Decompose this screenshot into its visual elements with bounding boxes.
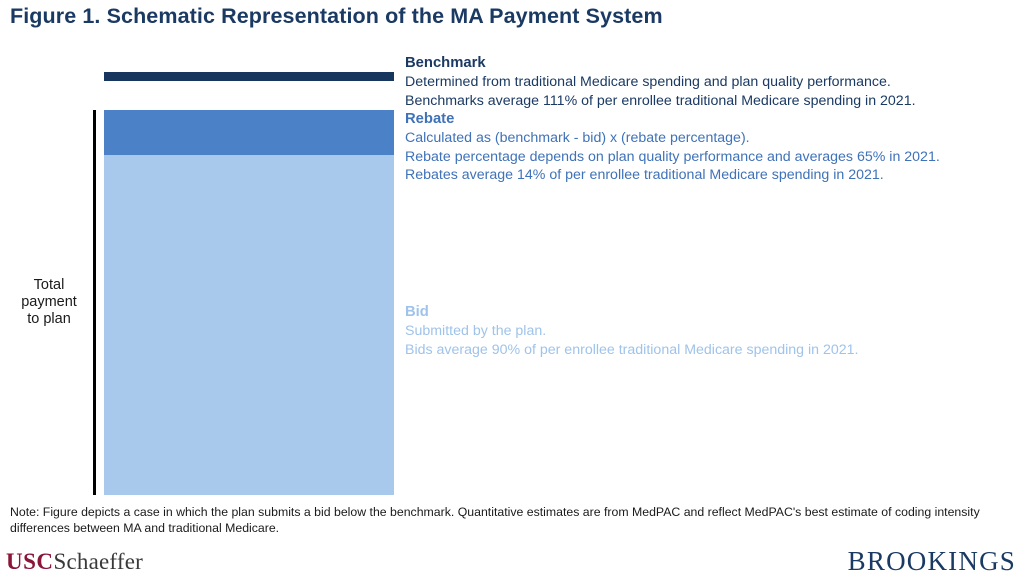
usc-wordmark: USC xyxy=(6,549,54,574)
schaeffer-wordmark: Schaeffer xyxy=(54,549,144,574)
bid-line-1: Submitted by the plan. xyxy=(405,322,859,341)
bid-bar-segment xyxy=(104,155,394,495)
bid-annotation: Bid Submitted by the plan. Bids average … xyxy=(405,303,859,359)
benchmark-line-1: Determined from traditional Medicare spe… xyxy=(405,73,916,92)
usc-schaeffer-logo: USCSchaeffer xyxy=(6,549,143,575)
figure-note: Note: Figure depicts a case in which the… xyxy=(10,505,1014,536)
rebate-line-1: Calculated as (benchmark - bid) x (rebat… xyxy=(405,129,940,148)
brookings-logo: BROOKINGS xyxy=(848,546,1016,577)
benchmark-line-2: Benchmarks average 111% of per enrollee … xyxy=(405,92,916,111)
rebate-line-3: Rebates average 14% of per enrollee trad… xyxy=(405,166,940,185)
benchmark-heading: Benchmark xyxy=(405,54,916,73)
rebate-line-2: Rebate percentage depends on plan qualit… xyxy=(405,148,940,167)
benchmark-annotation: Benchmark Determined from traditional Me… xyxy=(405,54,916,110)
benchmark-bar-segment xyxy=(104,72,394,81)
rebate-annotation: Rebate Calculated as (benchmark - bid) x… xyxy=(405,110,940,185)
rebate-bar-segment xyxy=(104,110,394,155)
bid-heading: Bid xyxy=(405,303,859,322)
total-payment-label: Total payment to plan xyxy=(8,277,90,328)
bid-line-2: Bids average 90% of per enrollee traditi… xyxy=(405,341,859,360)
rebate-heading: Rebate xyxy=(405,110,940,129)
page-title: Figure 1. Schematic Representation of th… xyxy=(10,4,663,29)
total-payment-axis-line xyxy=(93,110,96,495)
